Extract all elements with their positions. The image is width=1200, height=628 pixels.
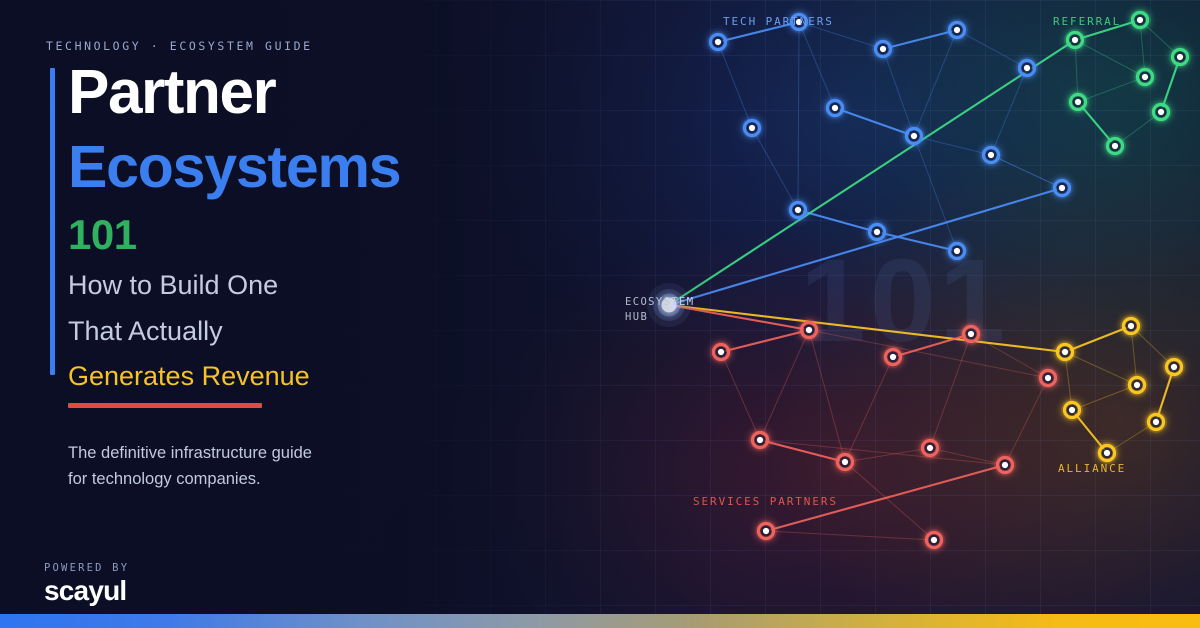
poster-canvas: 101 TECH PARTNERS REFERRAL ALLIANCE SERV… [0, 0, 1200, 628]
blurb-text: The definitive infrastructure guide for … [68, 440, 468, 493]
page-title-line2: Ecosystems [68, 138, 588, 197]
bottom-gradient-bar [0, 614, 1200, 628]
footer-branding: POWERED BY scayul [44, 562, 129, 605]
eyebrow-text: TECHNOLOGY · ECOSYSTEM GUIDE [46, 39, 313, 53]
brand-logo-wordmark: scayul [44, 576, 129, 605]
subtitle-line3-highlight: Generates Revenue [68, 361, 588, 393]
subtitle-line2: That Actually [68, 316, 588, 348]
title-block: Partner Ecosystems 101 How to Build One … [68, 62, 588, 408]
blurb-line2: for technology companies. [68, 466, 468, 492]
page-title-line3: 101 [68, 214, 588, 256]
blurb-line1: The definitive infrastructure guide [68, 440, 468, 466]
left-accent-bar [50, 68, 55, 375]
subtitle-line1: How to Build One [68, 270, 588, 302]
page-title-line1: Partner [68, 62, 588, 124]
powered-by-label: POWERED BY [44, 562, 129, 574]
highlight-underline [68, 403, 262, 408]
